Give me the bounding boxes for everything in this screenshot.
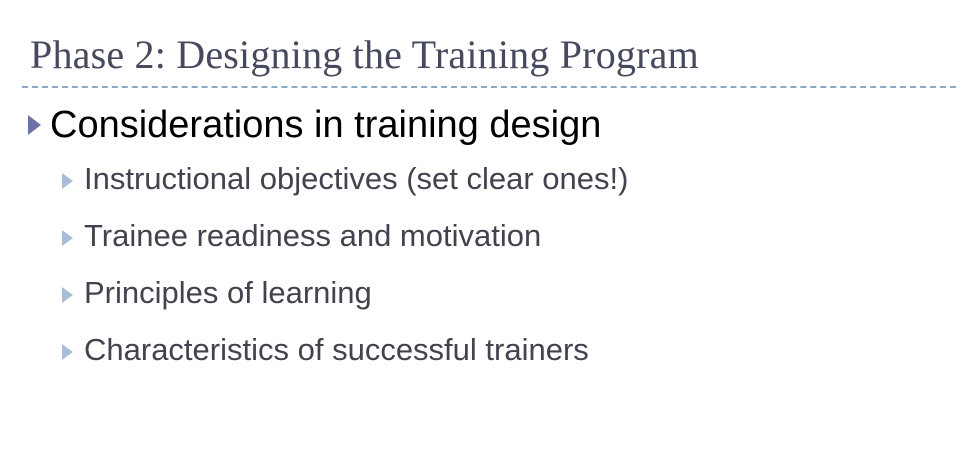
list-item: Instructional objectives (set clear ones… <box>0 157 976 214</box>
list-item-label: Considerations in training design <box>50 100 601 150</box>
triangle-right-bullet-icon <box>28 115 41 135</box>
title-divider <box>22 86 956 88</box>
triangle-right-bullet-icon <box>62 230 73 246</box>
slide-body-list: Considerations in training design Instru… <box>0 100 976 385</box>
list-item-label: Trainee readiness and motivation <box>84 214 541 257</box>
triangle-right-bullet-icon <box>62 287 73 303</box>
list-item: Trainee readiness and motivation <box>0 214 976 271</box>
triangle-right-bullet-icon <box>62 344 73 360</box>
list-item-label: Principles of learning <box>84 271 372 314</box>
page-title: Phase 2: Designing the Training Program <box>30 31 699 79</box>
triangle-right-bullet-icon <box>62 173 73 189</box>
list-item-label: Characteristics of successful trainers <box>84 328 589 371</box>
presentation-slide: Phase 2: Designing the Training Program … <box>0 0 976 468</box>
list-item: Considerations in training design <box>0 100 976 157</box>
list-item: Principles of learning <box>0 271 976 328</box>
list-item: Characteristics of successful trainers <box>0 328 976 385</box>
list-item-label: Instructional objectives (set clear ones… <box>84 157 628 200</box>
slide-header: Phase 2: Designing the Training Program <box>0 0 976 90</box>
